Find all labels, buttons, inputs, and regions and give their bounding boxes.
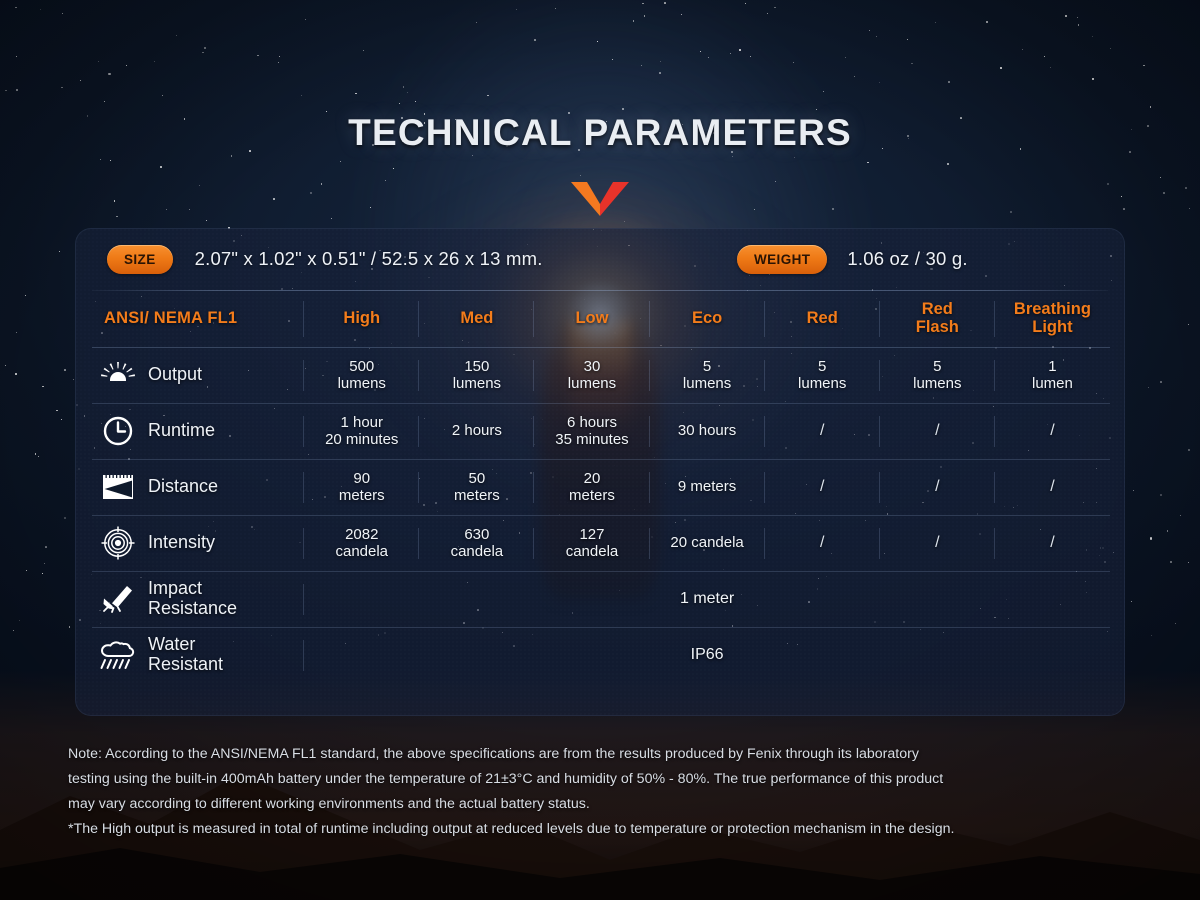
table-cell: 5lumens bbox=[650, 347, 765, 403]
size-value: 2.07" x 1.02" x 0.51" / 52.5 x 26 x 13 m… bbox=[195, 248, 543, 270]
table-cell: / bbox=[995, 403, 1110, 459]
page-title: TECHNICAL PARAMETERS bbox=[348, 112, 852, 154]
target-intensity-icon bbox=[100, 525, 136, 561]
row-label: Runtime bbox=[148, 421, 215, 441]
footnote-block: Note: According to the ANSI/NEMA FL1 sta… bbox=[68, 742, 1130, 842]
table-cell: / bbox=[765, 459, 880, 515]
table-cell: 9 meters bbox=[650, 459, 765, 515]
table-cell: 127candela bbox=[534, 515, 649, 571]
row-label-cell: Output bbox=[92, 347, 304, 403]
chevron-ornament bbox=[0, 178, 1200, 223]
table-cell: / bbox=[995, 459, 1110, 515]
table-row: Intensity 2082candela630candela127candel… bbox=[92, 515, 1110, 571]
table-cell: 5lumens bbox=[765, 347, 880, 403]
table-header-mode-red: Red bbox=[765, 291, 880, 347]
table-header-mode-med: Med bbox=[419, 291, 534, 347]
impact-hammer-icon bbox=[100, 581, 136, 617]
table-cell: / bbox=[995, 515, 1110, 571]
chevron-down-icon bbox=[569, 178, 631, 218]
ruler-beam-icon bbox=[100, 469, 136, 505]
table-cell: 90meters bbox=[304, 459, 419, 515]
table-header-mode-red-flash: RedFlash bbox=[880, 291, 995, 347]
table-cell: 50meters bbox=[419, 459, 534, 515]
row-span-value: IP66 bbox=[304, 627, 1110, 683]
table-cell: 150lumens bbox=[419, 347, 534, 403]
page-title-block: TECHNICAL PARAMETERS bbox=[0, 112, 1200, 154]
row-span-value: 1 meter bbox=[304, 571, 1110, 627]
row-label: ImpactResistance bbox=[148, 579, 237, 619]
row-label: Distance bbox=[148, 477, 218, 497]
note-line-1: Note: According to the ANSI/NEMA FL1 sta… bbox=[68, 742, 1130, 767]
table-cell: / bbox=[880, 459, 995, 515]
table-header-mode-low: Low bbox=[534, 291, 649, 347]
weight-group: WEIGHT 1.06 oz / 30 g. bbox=[737, 245, 968, 274]
table-header-mode-high: High bbox=[304, 291, 419, 347]
specifications-table: ANSI/ NEMA FL1HighMedLowEcoRedRedFlashBr… bbox=[92, 291, 1110, 683]
size-badge: SIZE bbox=[107, 245, 173, 274]
size-group: SIZE 2.07" x 1.02" x 0.51" / 52.5 x 26 x… bbox=[107, 245, 543, 274]
row-label-cell: Intensity bbox=[92, 515, 304, 571]
table-header-row: ANSI/ NEMA FL1HighMedLowEcoRedRedFlashBr… bbox=[92, 291, 1110, 347]
row-label: WaterResistant bbox=[148, 635, 223, 675]
sun-rays-icon bbox=[100, 357, 136, 393]
row-label-cell: ImpactResistance bbox=[92, 571, 304, 627]
table-cell: 1 hour20 minutes bbox=[304, 403, 419, 459]
table-header-mode-eco: Eco bbox=[650, 291, 765, 347]
table-cell: 2 hours bbox=[419, 403, 534, 459]
table-cell: 5lumens bbox=[880, 347, 995, 403]
note-line-3: may vary according to different working … bbox=[68, 792, 1130, 817]
table-cell: 20meters bbox=[534, 459, 649, 515]
row-label-cell: WaterResistant bbox=[92, 627, 304, 683]
table-row: Runtime 1 hour20 minutes2 hours6 hours35… bbox=[92, 403, 1110, 459]
table-cell: 20 candela bbox=[650, 515, 765, 571]
table-row: Output 500lumens150lumens30lumens5lumens… bbox=[92, 347, 1110, 403]
table-cell: 30 hours bbox=[650, 403, 765, 459]
table-cell: 1lumen bbox=[995, 347, 1110, 403]
row-label-cell: Distance bbox=[92, 459, 304, 515]
table-row: Distance 90meters50meters20meters9 meter… bbox=[92, 459, 1110, 515]
table-cell: / bbox=[880, 403, 995, 459]
table-row: ImpactResistance 1 meter bbox=[92, 571, 1110, 627]
table-head: ANSI/ NEMA FL1HighMedLowEcoRedRedFlashBr… bbox=[92, 291, 1110, 347]
note-line-2: testing using the built-in 400mAh batter… bbox=[68, 767, 1130, 792]
weight-value: 1.06 oz / 30 g. bbox=[847, 248, 967, 270]
table-cell: 630candela bbox=[419, 515, 534, 571]
table-cell: / bbox=[880, 515, 995, 571]
table-cell: 6 hours35 minutes bbox=[534, 403, 649, 459]
table-header-label: ANSI/ NEMA FL1 bbox=[92, 291, 304, 347]
note-line-4: *The High output is measured in total of… bbox=[68, 817, 1130, 842]
clock-icon bbox=[100, 413, 136, 449]
weight-badge: WEIGHT bbox=[737, 245, 827, 274]
table-cell: 2082candela bbox=[304, 515, 419, 571]
table-cell: / bbox=[765, 515, 880, 571]
row-label: Output bbox=[148, 365, 202, 385]
spec-panel: SIZE 2.07" x 1.02" x 0.51" / 52.5 x 26 x… bbox=[75, 228, 1125, 716]
table-row: WaterResistant IP66 bbox=[92, 627, 1110, 683]
table-cell: 500lumens bbox=[304, 347, 419, 403]
table-header-mode-breathing-light: BreathingLight bbox=[995, 291, 1110, 347]
table-cell: / bbox=[765, 403, 880, 459]
rain-cloud-icon bbox=[100, 637, 136, 673]
table-cell: 30lumens bbox=[534, 347, 649, 403]
table-body: Output 500lumens150lumens30lumens5lumens… bbox=[92, 347, 1110, 683]
row-label-cell: Runtime bbox=[92, 403, 304, 459]
meta-row: SIZE 2.07" x 1.02" x 0.51" / 52.5 x 26 x… bbox=[75, 228, 1125, 290]
row-label: Intensity bbox=[148, 533, 215, 553]
